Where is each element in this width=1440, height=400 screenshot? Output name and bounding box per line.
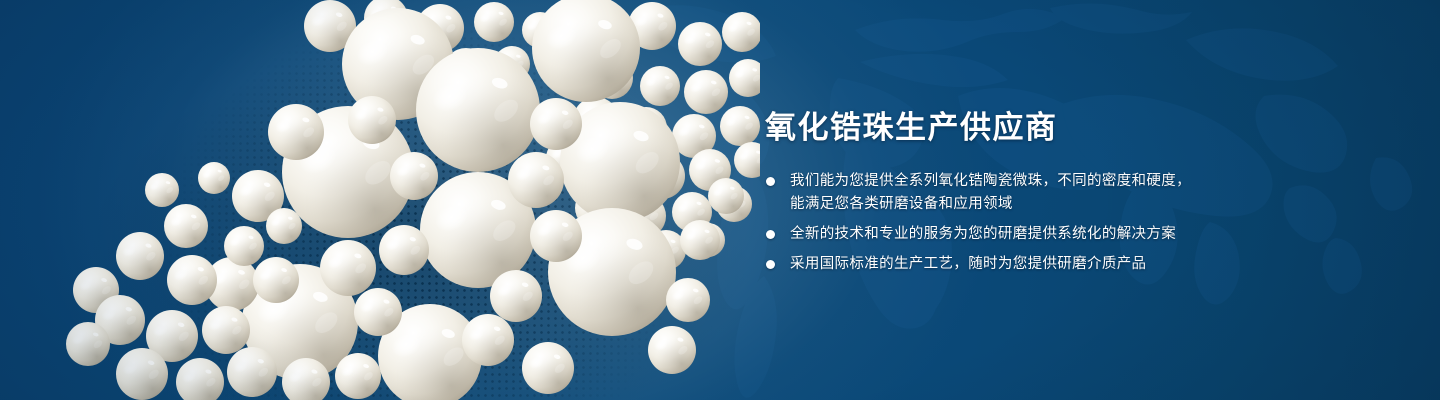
edge-vignette [0, 0, 1440, 400]
hero-banner: 氧化锆珠生产供应商 我们能为您提供全系列氧化锆陶瓷微珠，不同的密度和硬度， 能满… [0, 0, 1440, 400]
